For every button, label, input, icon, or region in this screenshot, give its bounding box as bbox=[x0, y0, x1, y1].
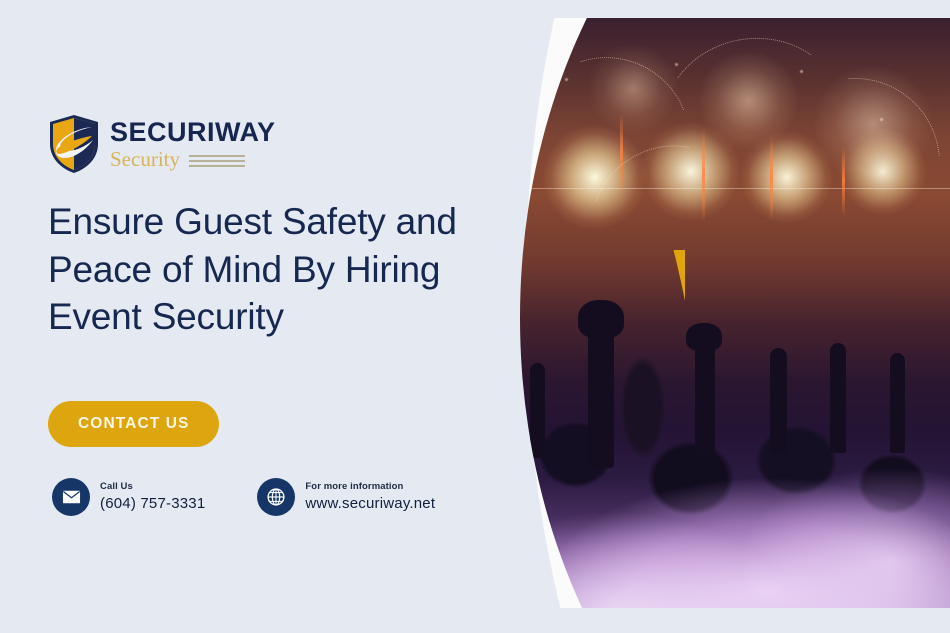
firework-spark bbox=[800, 70, 803, 73]
contact-item-website[interactable]: For more information www.securiway.net bbox=[257, 478, 435, 516]
logo-name: SECURIWAY bbox=[110, 119, 276, 146]
page-title: Ensure Guest Safety and Peace of Mind By… bbox=[48, 198, 468, 341]
contact-label-website: For more information bbox=[305, 482, 435, 493]
firework-spark bbox=[880, 118, 883, 121]
envelope-icon bbox=[52, 478, 90, 516]
contact-value-phone: (604) 757-3331 bbox=[100, 495, 205, 512]
globe-icon bbox=[257, 478, 295, 516]
event-security-banner: SECURIWAY Security Ensure Guest Safety a… bbox=[0, 0, 950, 633]
crowd-arm-silhouette bbox=[830, 343, 846, 453]
crowd-arm-silhouette bbox=[770, 348, 787, 453]
contact-item-phone[interactable]: Call Us (604) 757-3331 bbox=[52, 478, 205, 516]
brand-logo[interactable]: SECURIWAY Security bbox=[48, 114, 276, 174]
logo-rule-lines bbox=[189, 152, 245, 167]
firework-spark bbox=[565, 78, 568, 81]
crowd-arm-silhouette bbox=[890, 353, 905, 453]
shield-swoosh-icon bbox=[48, 114, 100, 174]
top-margin bbox=[470, 0, 950, 18]
content-column: SECURIWAY Security Ensure Guest Safety a… bbox=[0, 0, 470, 633]
contact-us-button[interactable]: CONTACT US bbox=[48, 401, 219, 447]
contact-label-phone: Call Us bbox=[100, 482, 205, 493]
gold-curve-separator bbox=[470, 240, 710, 615]
firework-spark bbox=[675, 63, 678, 66]
contact-value-website: www.securiway.net bbox=[305, 495, 435, 512]
logo-subtitle: Security bbox=[110, 149, 180, 170]
contact-info-row: Call Us (604) 757-3331 bbox=[52, 478, 435, 516]
